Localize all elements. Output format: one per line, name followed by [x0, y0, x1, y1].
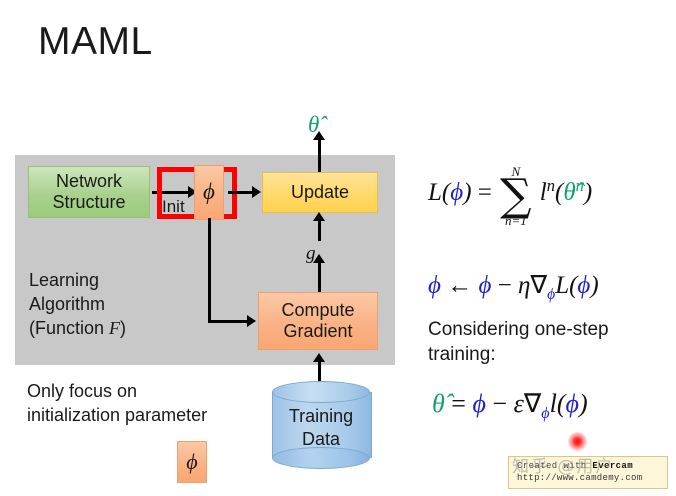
update-box[interactable]: Update [262, 172, 378, 213]
watermark-line-1: Created with Evercam [517, 460, 661, 472]
eq1-L: L [428, 179, 442, 206]
eq3-nabla: ∇ [524, 389, 541, 418]
eq3-l: l [550, 389, 557, 418]
eq2-arrow: ← [447, 272, 472, 299]
la-line-3: (Function F) [29, 317, 126, 341]
output-theta-hat: θ̂ [308, 112, 319, 138]
arrow-phi-to-grad-head [247, 315, 256, 327]
summation-operator: N ∑ n=1 [500, 165, 531, 228]
focus-note-line-1: Only focus on [27, 379, 207, 403]
cg-line-2: Gradient [281, 321, 354, 342]
training-data-cylinder[interactable]: Training Data [272, 381, 370, 469]
eq1-theta-sup: n [576, 176, 584, 195]
laser-pointer-dot [568, 432, 587, 451]
learning-algorithm-label: Learning Algorithm (Function F) [29, 269, 126, 340]
training-data-label: Training Data [272, 405, 370, 450]
compute-gradient-label: Compute Gradient [281, 300, 354, 341]
watermark-line-2: http://www.camdemy.com [517, 472, 661, 484]
equation-one-step: θ̂ = ϕ − ε∇ϕl(ϕ) [432, 389, 588, 423]
ns-line-1: Network [52, 171, 125, 192]
arrow-update-to-output-line [318, 138, 321, 172]
function-symbol: F [109, 318, 120, 338]
eq2-phi-lhs: ϕ [428, 272, 441, 299]
eq3-minus: − [492, 389, 507, 418]
eq3-theta-hat: θ̂ [432, 389, 445, 418]
arrow-g-to-update-head [313, 212, 325, 221]
eq3-nabla-sub: ϕ [541, 405, 549, 422]
arrow-data-to-grad-head [313, 353, 325, 362]
arrow-phi-to-update-line [228, 191, 254, 194]
watermark-prefix: Created with [517, 461, 592, 471]
arrow-phi-right-line [208, 320, 250, 323]
eq1-phi-arg: ϕ [450, 179, 463, 206]
slide-canvas: MAML Learning Algorithm (Function F) Net… [0, 0, 676, 496]
arrow-phi-to-update-head [252, 186, 261, 198]
init-label: Init [162, 197, 185, 217]
eq2-minus: − [498, 272, 512, 299]
eq1-equals: = [478, 179, 492, 206]
eq2-phi-1: ϕ [478, 272, 491, 299]
focus-note-line-2: initialization parameter [27, 403, 207, 427]
eq2-nabla-sub: ϕ [547, 286, 555, 303]
arrow-phi-down-line [208, 218, 211, 322]
page-title: MAML [38, 22, 153, 61]
cylinder-top [272, 381, 370, 403]
considering-line-1: Considering one-step [428, 318, 609, 343]
equation-phi-update: ϕ ← ϕ − η∇ϕL(ϕ) [428, 270, 599, 304]
eq3-phi-2: ϕ [566, 389, 579, 418]
eq2-nabla: ∇ [530, 272, 547, 299]
eq3-epsilon: ε [514, 389, 524, 418]
eq2-phi-2: ϕ [577, 272, 590, 299]
eq3-phi-1: ϕ [472, 389, 485, 418]
considering-note: Considering one-step training: [428, 318, 609, 367]
ns-line-2: Structure [52, 192, 125, 213]
eq1-theta-hat: θ̂ [563, 179, 575, 206]
la-line-1: Learning [29, 269, 126, 293]
sum-sigma-glyph: ∑ [500, 178, 531, 214]
phi-box[interactable]: ϕ [194, 165, 224, 220]
eq3-equals: = [451, 389, 466, 418]
phi-focus-box[interactable]: ϕ [177, 441, 207, 483]
eq1-l: l [540, 179, 547, 206]
gradient-label: g [306, 243, 316, 265]
cylinder-bottom [272, 447, 370, 469]
watermark-box: Created with Evercam http://www.camdemy.… [508, 456, 668, 489]
network-structure-label: Network Structure [52, 171, 125, 212]
arrow-g-to-update-line [318, 219, 321, 241]
td-line-1: Training [272, 405, 370, 428]
td-line-2: Data [272, 428, 370, 451]
compute-gradient-box[interactable]: Compute Gradient [258, 292, 378, 350]
focus-note: Only focus on initialization parameter [27, 379, 207, 428]
considering-line-2: training: [428, 343, 609, 368]
eq1-l-sup: n [547, 176, 555, 195]
eq2-L: L [555, 272, 569, 299]
arrow-grad-to-g-line [318, 261, 321, 294]
eq2-eta: η [518, 272, 530, 299]
cg-line-1: Compute [281, 300, 354, 321]
watermark-brand: Evercam [592, 461, 633, 471]
la-line-2: Algorithm [29, 293, 126, 317]
network-structure-box[interactable]: Network Structure [28, 166, 150, 218]
equation-loss: L(ϕ) = N ∑ n=1 ln(θ̂n) [428, 163, 592, 226]
